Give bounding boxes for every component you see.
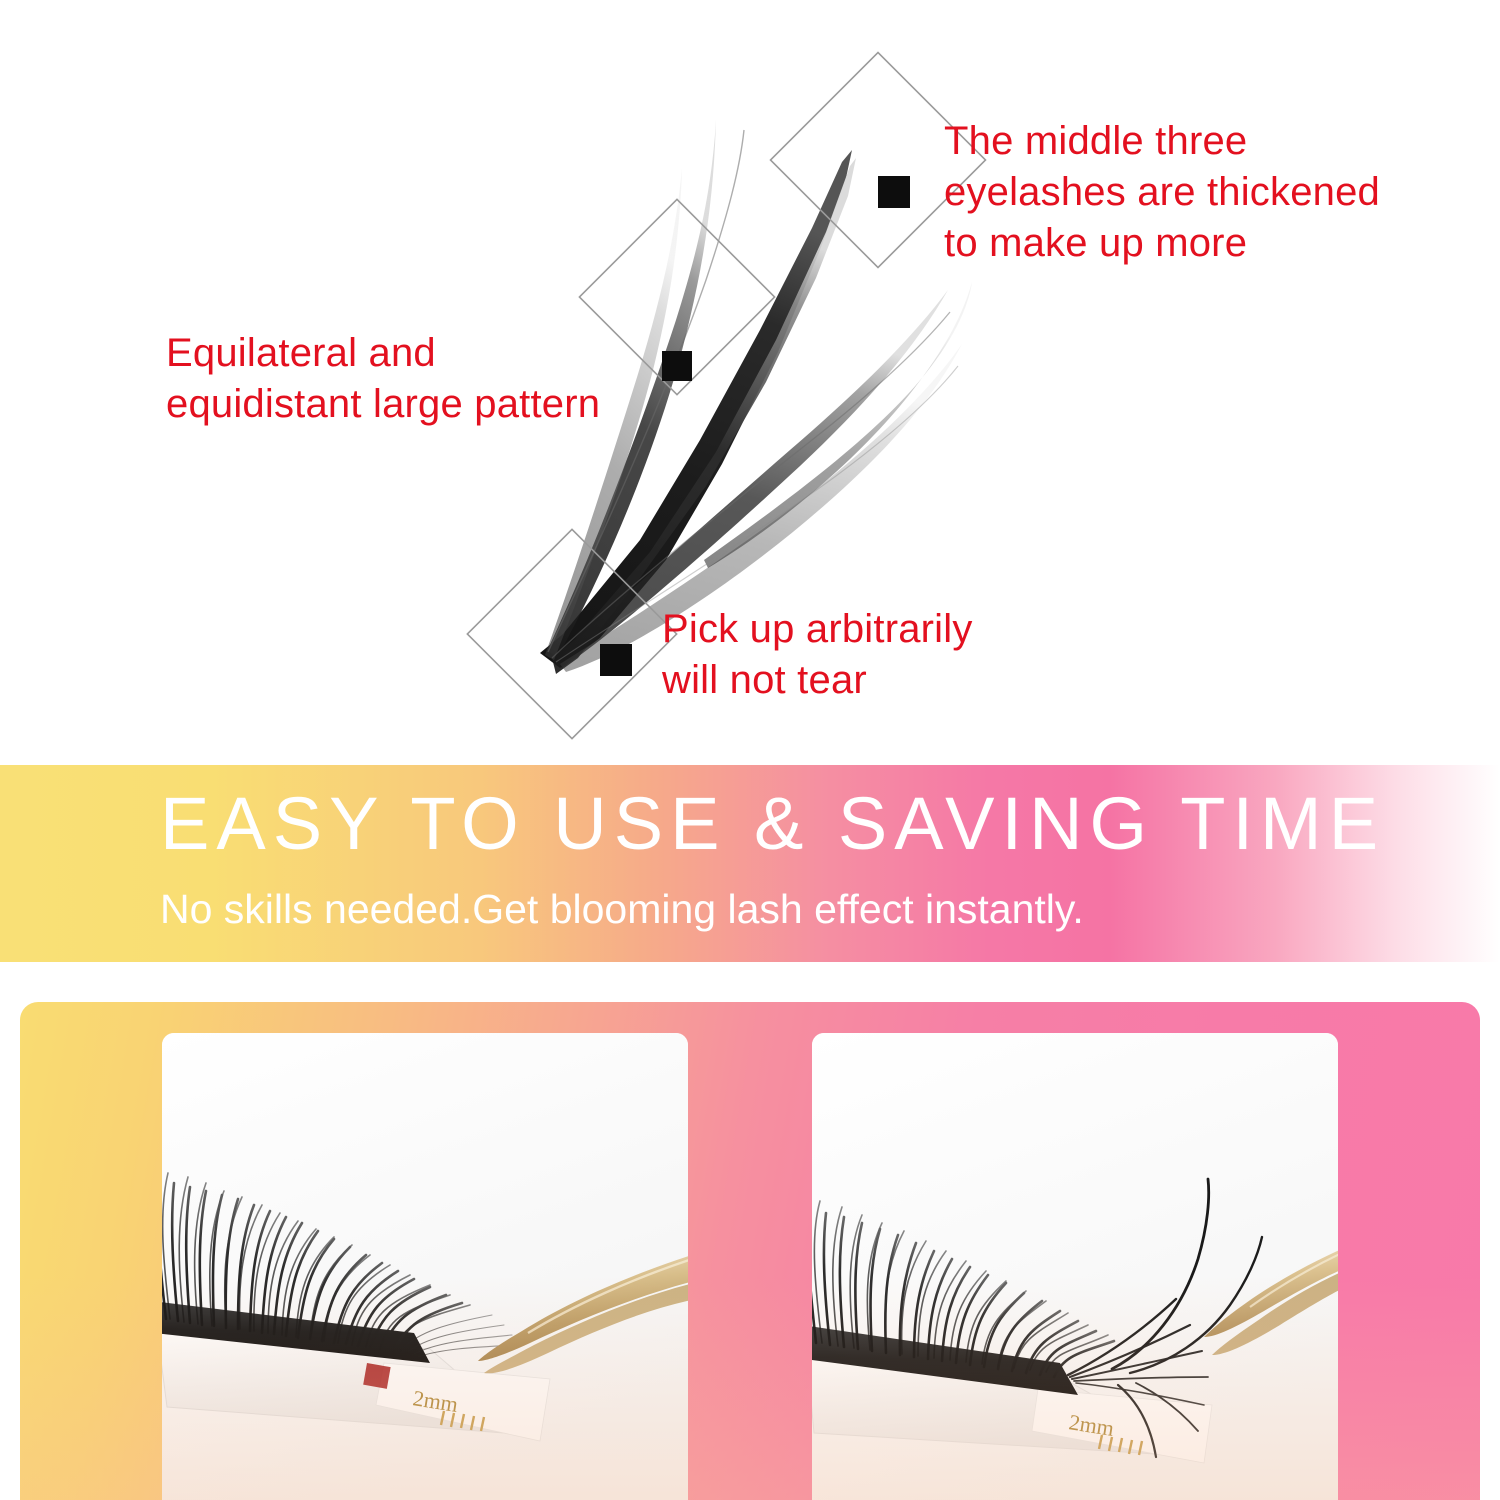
photo-card-lash-fan-picked-up: 2mm — [812, 1033, 1338, 1500]
banner-heading: EASY TO USE & SAVING TIME — [160, 787, 1385, 861]
banner-subheading: No skills needed.Get blooming lash effec… — [160, 889, 1084, 930]
photo-lash-fan-pickup-graphic: 2mm — [812, 1033, 1338, 1500]
photo-card-lash-tray-with-tweezers: 2mm — [162, 1033, 688, 1500]
feature-section: The middle three eyelashes are thickened… — [0, 0, 1500, 765]
photo-panel: 2mm — [20, 1002, 1480, 1500]
promo-banner: EASY TO USE & SAVING TIME No skills need… — [0, 765, 1500, 962]
product-infographic-page: The middle three eyelashes are thickened… — [0, 0, 1500, 1500]
callout-text-middle-three-thickened: The middle three eyelashes are thickened… — [944, 116, 1414, 270]
photo-lash-tray-tweezers-graphic: 2mm — [162, 1033, 688, 1500]
callout-text-equilateral-pattern: Equilateral and equidistant large patter… — [166, 328, 666, 430]
callout-text-will-not-tear: Pick up arbitrarily will not tear — [662, 604, 1082, 706]
